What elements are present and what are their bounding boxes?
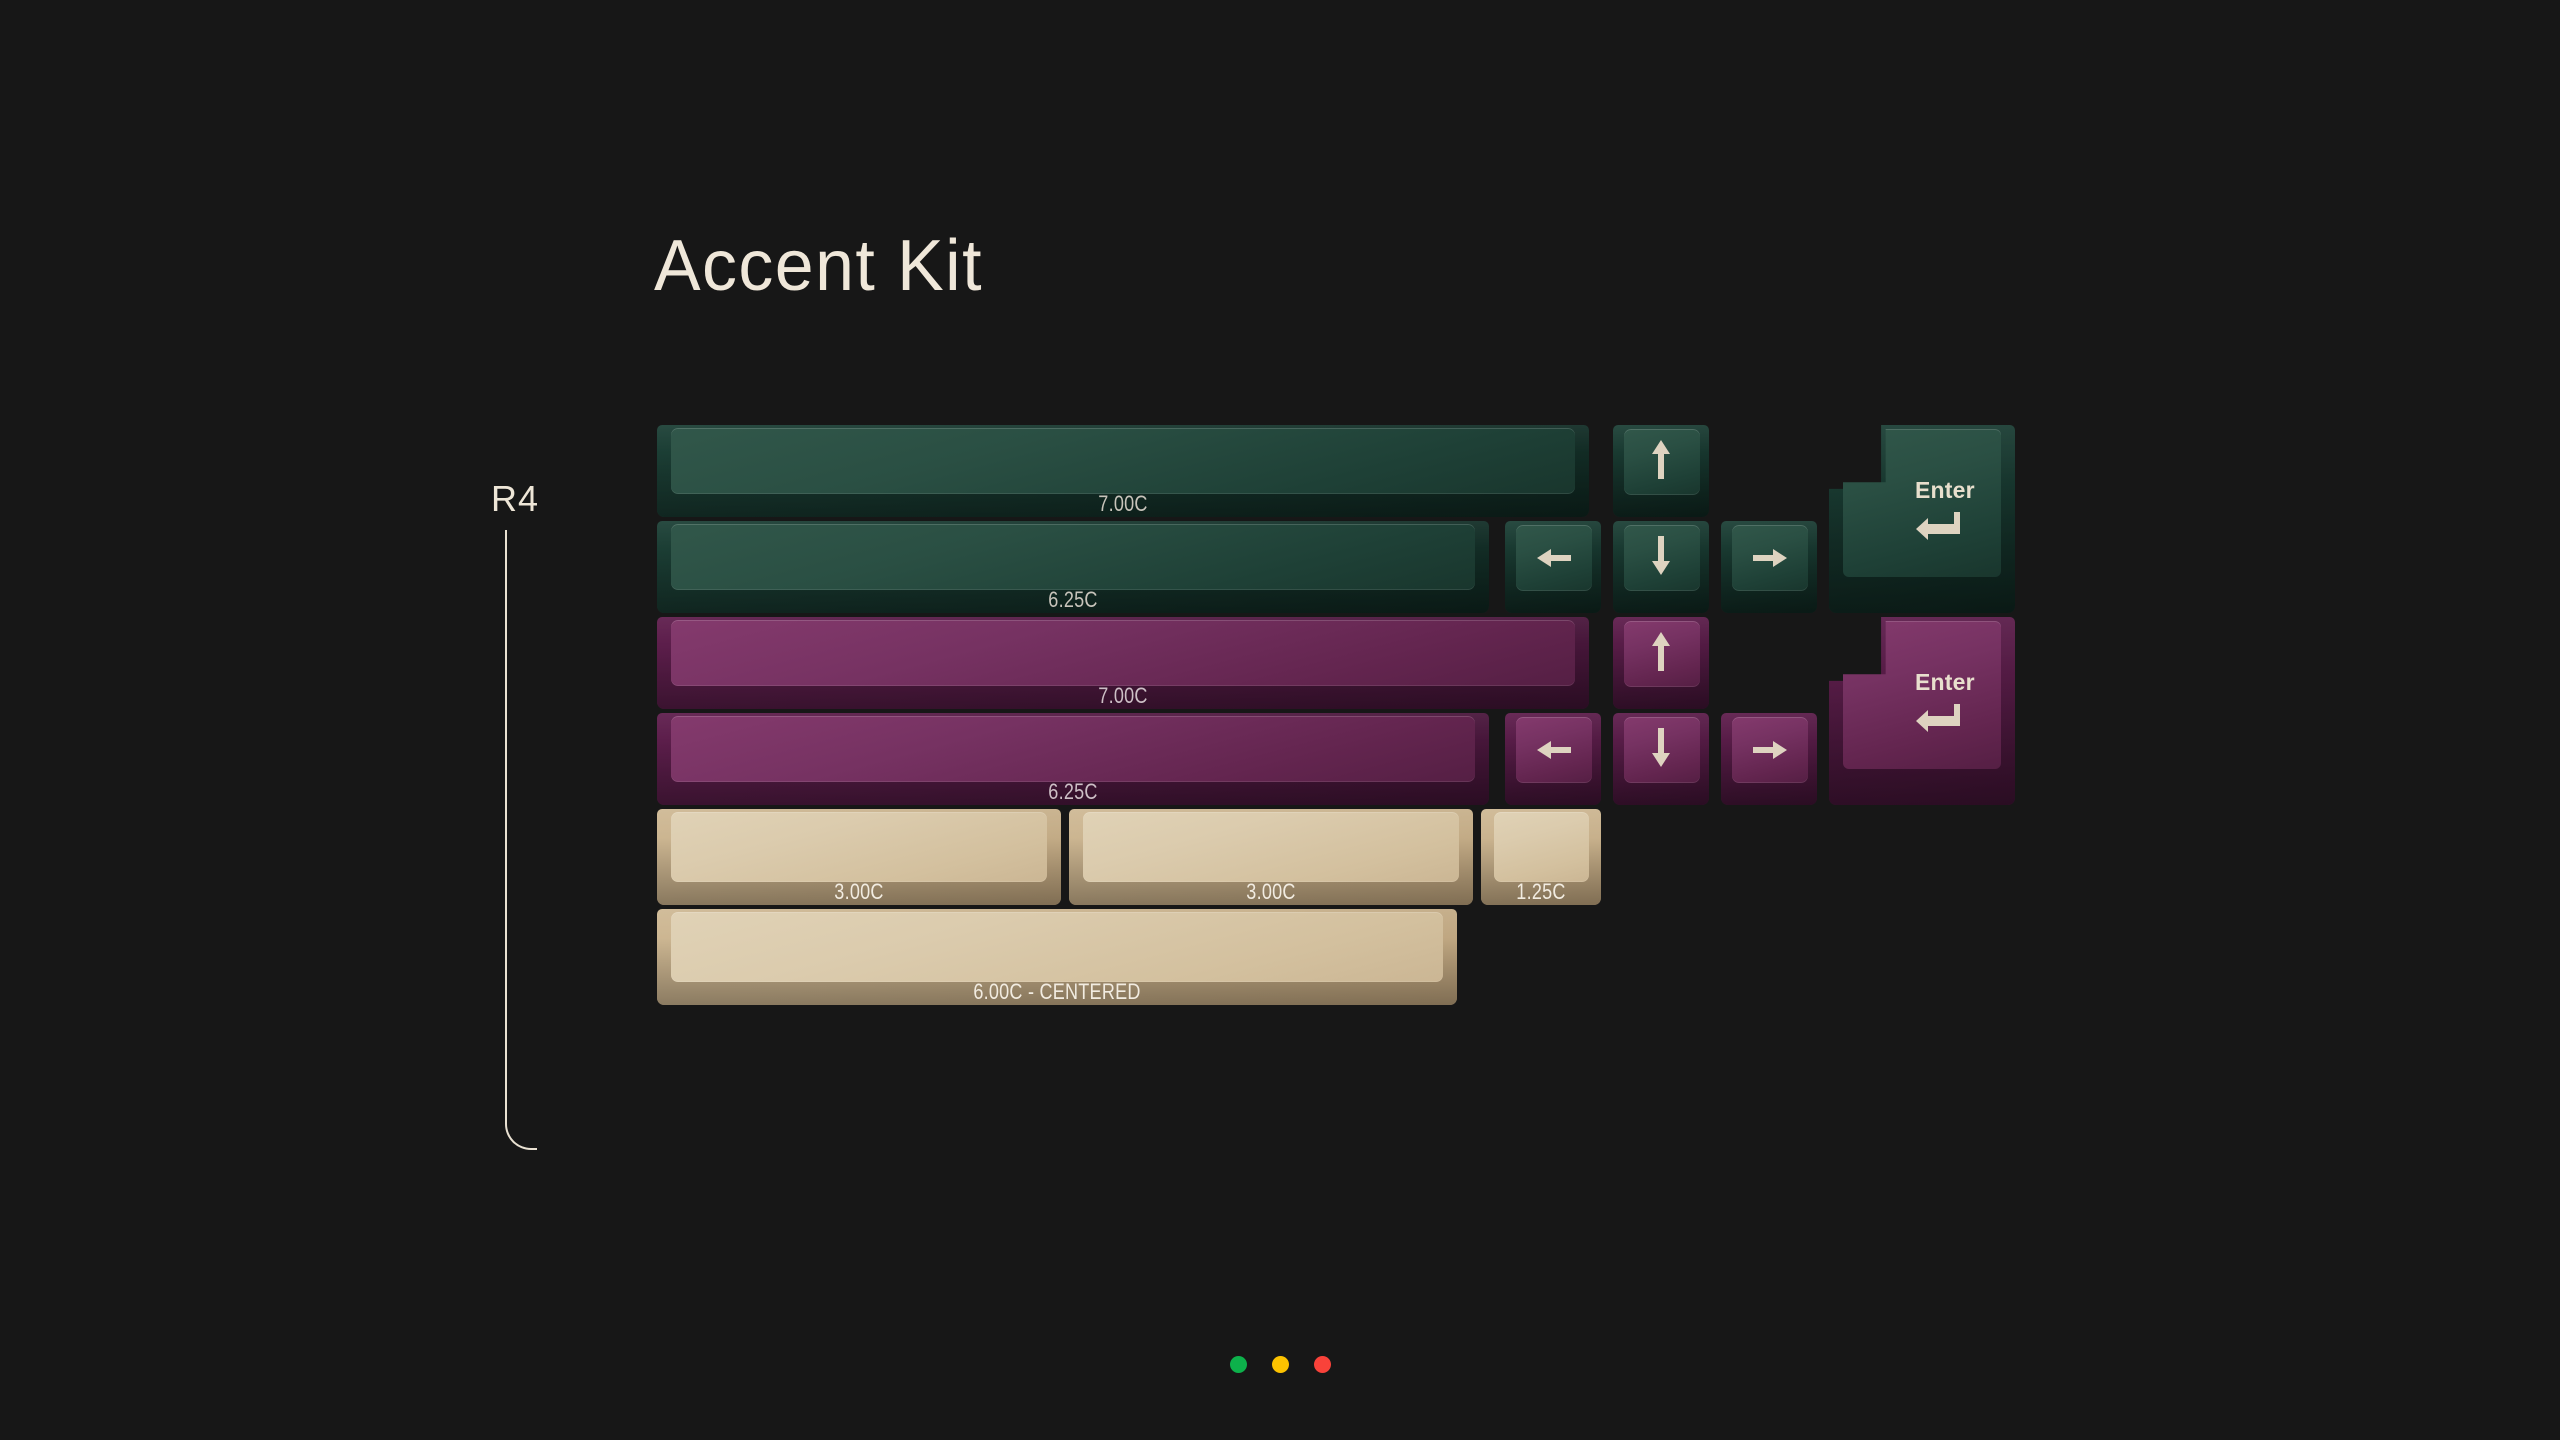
keycap-purple-625u[interactable]: 6.25C xyxy=(657,713,1489,805)
row-group-label: R4 xyxy=(491,478,539,520)
keycap-beige-3u-right[interactable]: 3.00C xyxy=(1069,809,1473,905)
keycap-top xyxy=(1843,621,2001,769)
keycap-top xyxy=(671,428,1575,494)
keycap-beige-6u[interactable]: 6.00C - CENTERED xyxy=(657,909,1457,1005)
keycap-top xyxy=(1624,525,1700,591)
keycap-top xyxy=(1732,525,1808,591)
keycap-top xyxy=(1516,717,1592,783)
keycap-top xyxy=(1494,812,1589,882)
keycap-purple-up[interactable] xyxy=(1613,617,1709,709)
dot-red[interactable] xyxy=(1314,1356,1331,1373)
page-title: Accent Kit xyxy=(654,225,983,307)
keycap-top xyxy=(671,812,1047,882)
keycap-green-down[interactable] xyxy=(1613,521,1709,613)
keycap-top xyxy=(1083,812,1459,882)
dot-green[interactable] xyxy=(1230,1356,1247,1373)
pagination-dots xyxy=(0,1356,2560,1373)
keycap-top xyxy=(671,524,1475,590)
keycap-beige-125u[interactable]: 1.25C xyxy=(1481,809,1601,905)
keycap-purple-down[interactable] xyxy=(1613,713,1709,805)
keycap-layout: 7.00C 6.25C xyxy=(657,425,2077,1215)
keycap-purple-enter[interactable]: Enter xyxy=(1829,617,2015,805)
keycap-green-up[interactable] xyxy=(1613,425,1709,517)
keycap-purple-right[interactable] xyxy=(1721,713,1817,805)
dot-yellow[interactable] xyxy=(1272,1356,1289,1373)
keycap-purple-left[interactable] xyxy=(1505,713,1601,805)
row-group-bracket xyxy=(505,530,541,1150)
bracket-line xyxy=(505,530,507,1110)
keycap-top xyxy=(1624,621,1700,687)
keycap-top xyxy=(1843,429,2001,577)
keycap-top xyxy=(671,912,1443,982)
keycap-top xyxy=(671,620,1575,686)
keycap-top xyxy=(1624,717,1700,783)
keycap-top xyxy=(1516,525,1592,591)
keycap-green-625u[interactable]: 6.25C xyxy=(657,521,1489,613)
keycap-top xyxy=(671,716,1475,782)
keycap-green-7u[interactable]: 7.00C xyxy=(657,425,1589,517)
keycap-beige-3u-left[interactable]: 3.00C xyxy=(657,809,1061,905)
keycap-green-right[interactable] xyxy=(1721,521,1817,613)
keycap-purple-7u[interactable]: 7.00C xyxy=(657,617,1589,709)
bracket-curve xyxy=(505,1104,537,1150)
keycap-green-left[interactable] xyxy=(1505,521,1601,613)
keycap-top xyxy=(1624,429,1700,495)
keycap-green-enter[interactable]: Enter xyxy=(1829,425,2015,613)
keycap-top xyxy=(1732,717,1808,783)
